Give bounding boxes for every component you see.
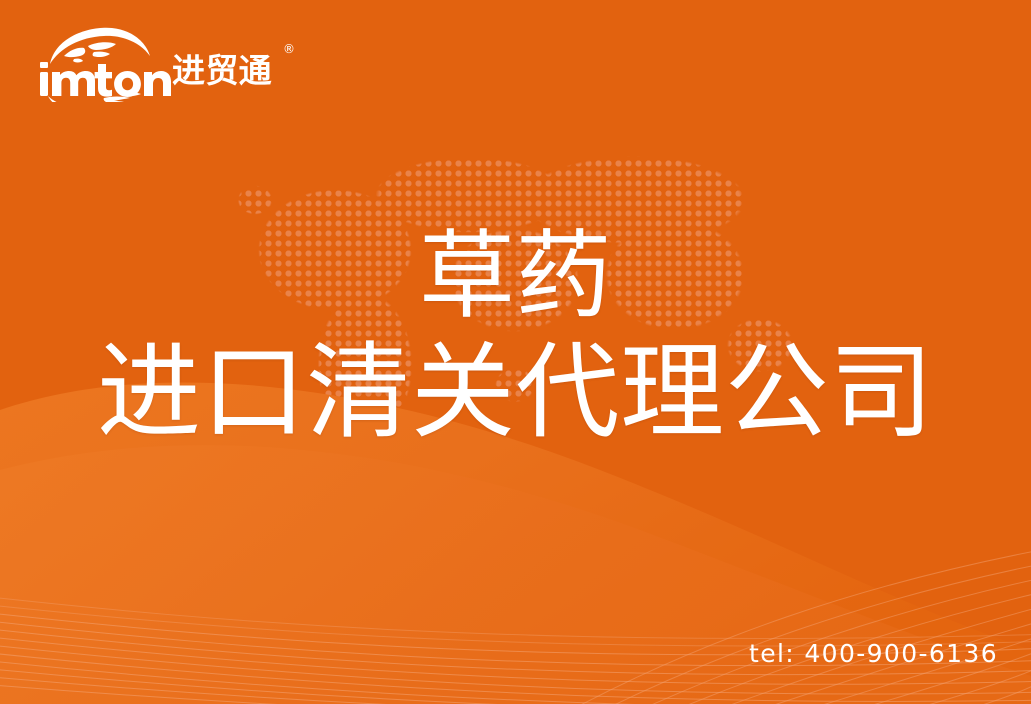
headline-line-2: 进口清关代理公司 bbox=[0, 340, 1031, 444]
brand-chinese-wordmark: 进贸通 bbox=[172, 44, 272, 92]
contact-phone[interactable]: tel: 400-900-6136 bbox=[749, 639, 998, 668]
registered-trademark-icon: ® bbox=[283, 42, 295, 56]
globe-arc-icon bbox=[50, 28, 150, 64]
page-title: 草药 进口清关代理公司 bbox=[0, 228, 1031, 444]
headline-line-1: 草药 bbox=[0, 228, 1031, 324]
promo-banner: 进贸通 ® 草药 进口清关代理公司 tel: 400-900-6136 bbox=[0, 0, 1031, 704]
brand-latin-wordmark bbox=[40, 62, 171, 97]
